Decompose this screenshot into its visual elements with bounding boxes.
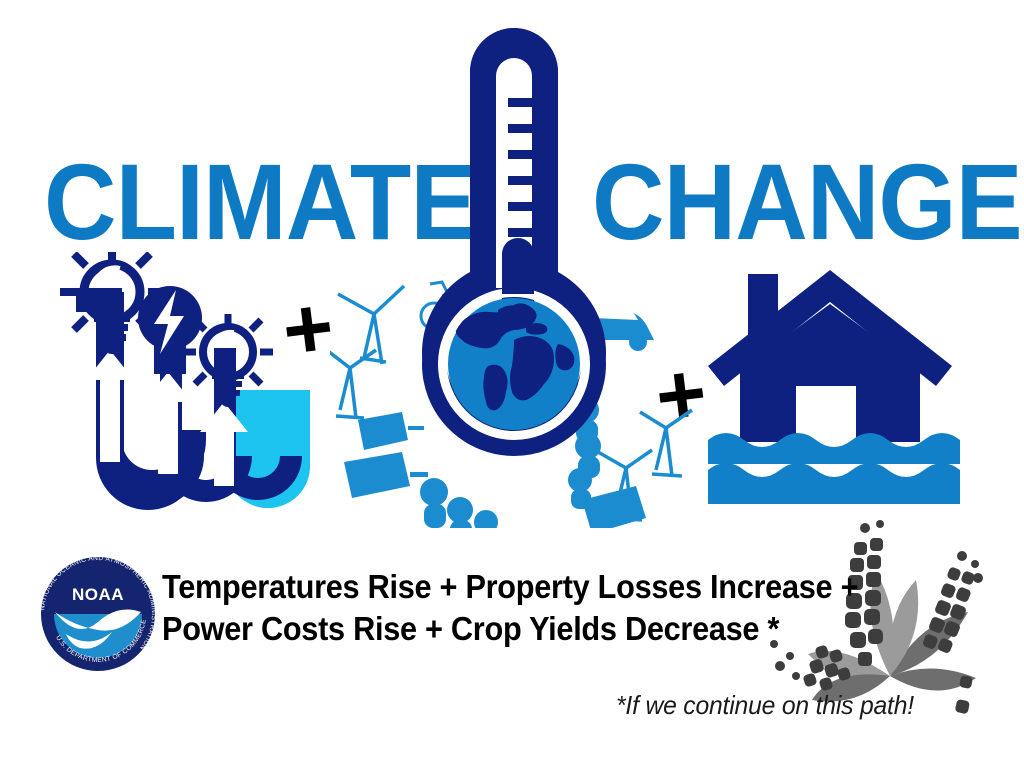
solar-panel-icon-right	[582, 486, 646, 528]
logo-wordmark: NOAA	[72, 585, 124, 604]
noaa-logo: NOAA NATIONAL OCEANIC AND ATMOSPHERIC AD…	[40, 556, 156, 672]
footnote-text: *If we continue on this path!	[616, 690, 914, 720]
corn-crop-icon	[762, 516, 1014, 716]
climate-change-poster: CLIMATE CHANGE + +	[0, 0, 1024, 760]
flooded-house-icon	[700, 262, 990, 512]
wind-turbine-icon-4	[640, 410, 692, 476]
rising-power-costs-icon	[50, 252, 350, 522]
caption-line-1: Temperatures Rise + Property Losses Incr…	[162, 566, 739, 608]
people-icon-left	[420, 478, 498, 528]
flood-waves-icon	[708, 433, 960, 504]
lightbulb-bolt-icon	[138, 286, 202, 374]
caption-line-2: Power Costs Rise + Crop Yields Decrease …	[162, 608, 739, 650]
thermometer-globe-icon	[330, 28, 700, 528]
corn-cob-2	[922, 551, 983, 654]
thermometer-mercury-top	[502, 238, 534, 294]
solar-panel-icon	[344, 412, 428, 498]
door	[796, 386, 856, 442]
caption-block: Temperatures Rise + Property Losses Incr…	[162, 566, 782, 650]
